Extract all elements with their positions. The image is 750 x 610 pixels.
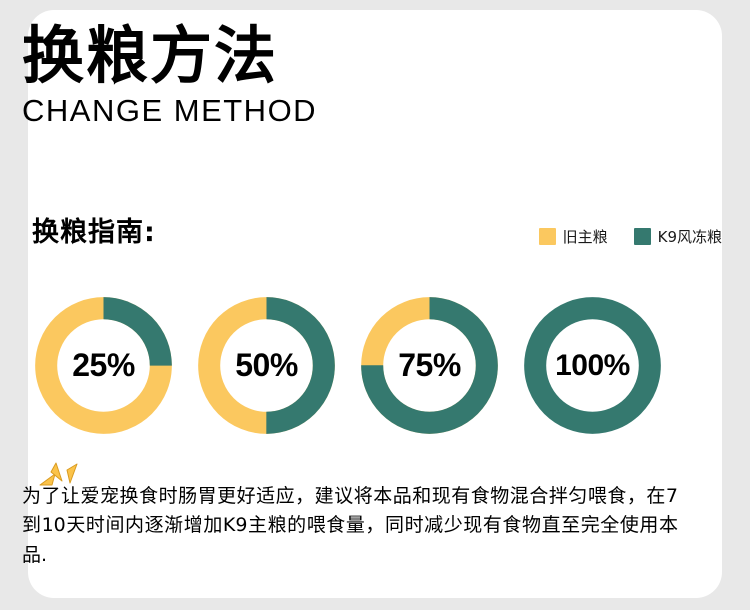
- donut-chart-25-svg: [30, 292, 177, 439]
- legend-label-old-food: 旧主粮: [563, 226, 608, 247]
- chart-legend: 旧主粮 K9风冻粮: [539, 226, 722, 247]
- donut-chart-100-svg: [519, 292, 666, 439]
- square-swatch-icon: [634, 228, 651, 245]
- donut-chart-75: 75%: [356, 292, 503, 439]
- page-title-en: CHANGE METHOD: [22, 95, 317, 126]
- donut-chart-50: 50%: [193, 292, 340, 439]
- page-root: 换粮方法 CHANGE METHOD 换粮指南: 旧主粮 K9风冻粮 25%: [0, 0, 750, 610]
- legend-label-k9-food: K9风冻粮: [658, 226, 722, 247]
- donut-chart-25: 25%: [30, 292, 177, 439]
- page-title: 换粮方法 CHANGE METHOD: [22, 25, 317, 126]
- donut-chart-75-svg: [356, 292, 503, 439]
- page-title-cn: 换粮方法: [22, 25, 317, 87]
- donut-chart-row: 25% 50% 75% 100%: [30, 292, 666, 439]
- legend-item-k9-food: K9风冻粮: [634, 226, 722, 247]
- guide-heading: 换粮指南:: [32, 210, 156, 249]
- footnote-text: 为了让爱宠换食时肠胃更好适应，建议将本品和现有食物混合拌匀喂食，在7到10天时间…: [22, 482, 678, 570]
- legend-item-old-food: 旧主粮: [539, 226, 608, 247]
- square-swatch-icon: [539, 228, 556, 245]
- donut-chart-100: 100%: [519, 292, 666, 439]
- donut-chart-50-svg: [193, 292, 340, 439]
